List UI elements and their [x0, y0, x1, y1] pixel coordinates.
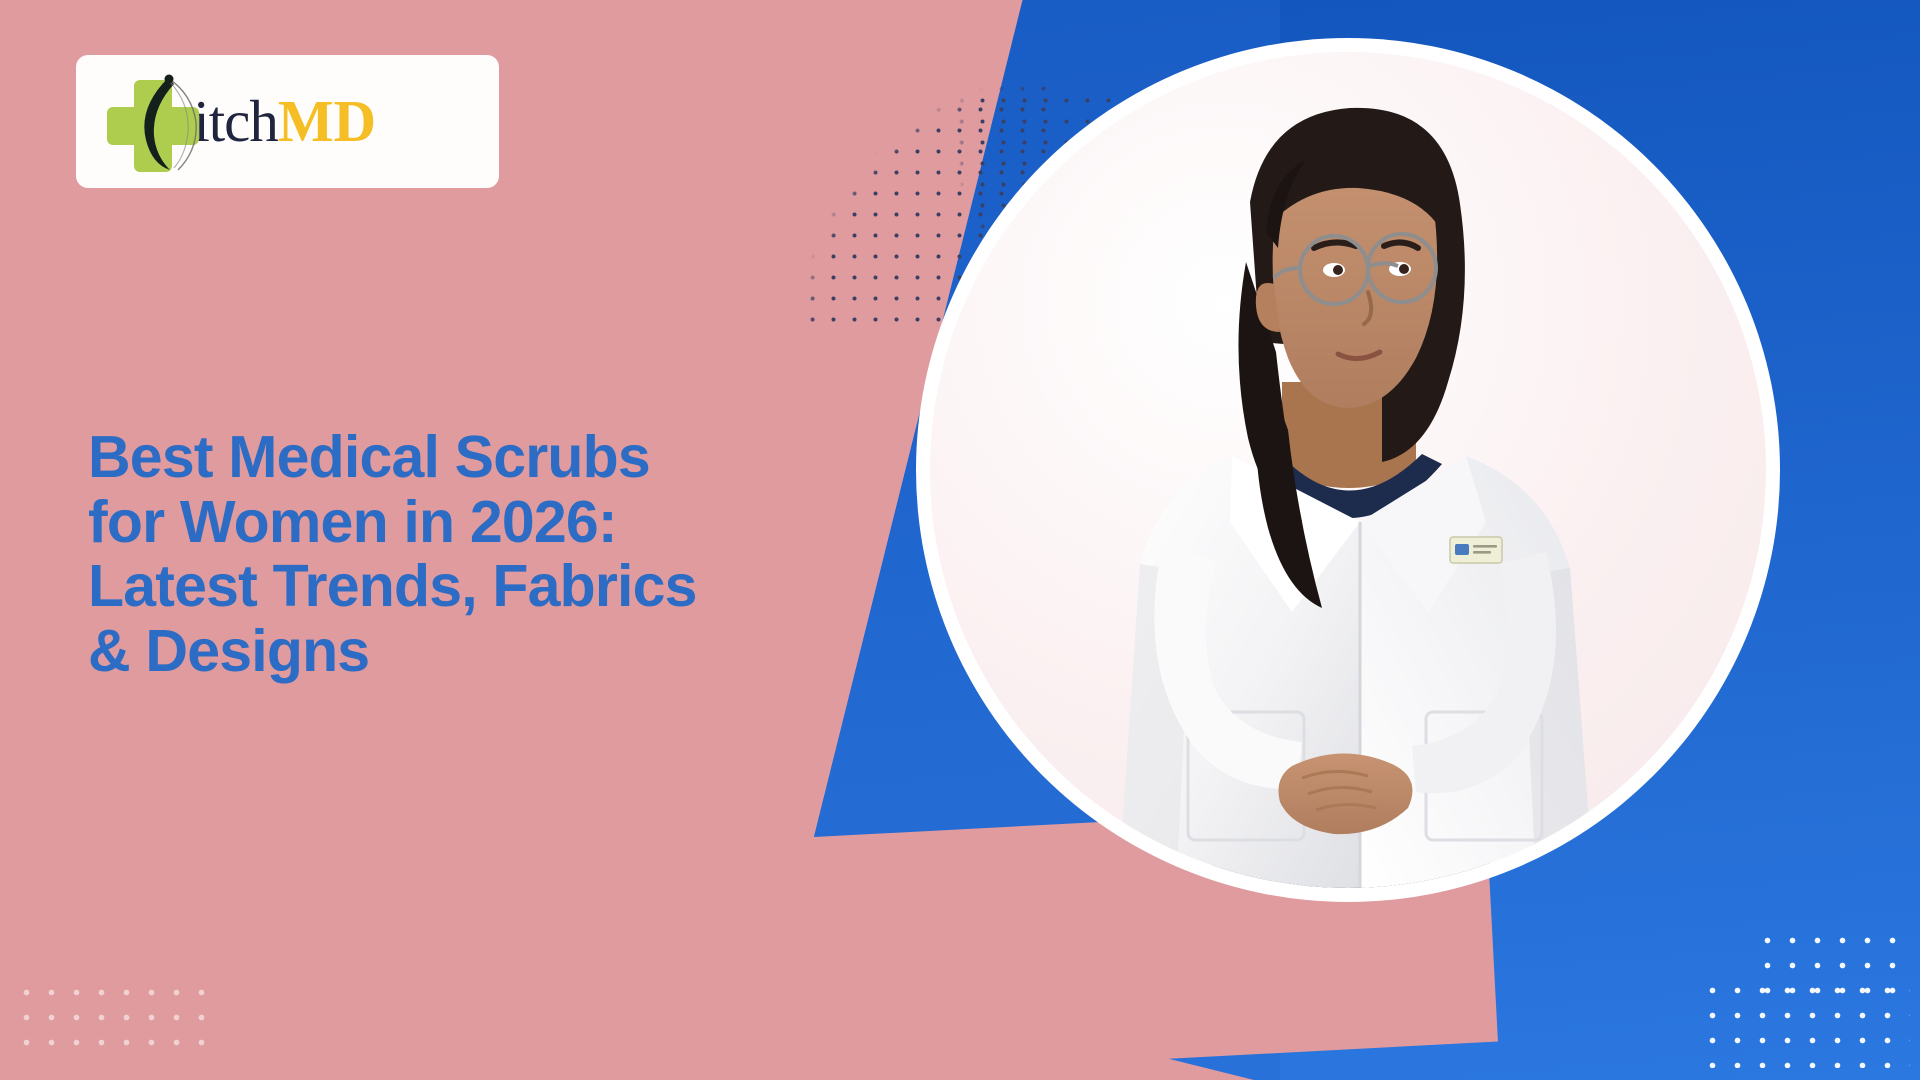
doctor-portrait [930, 52, 1766, 888]
stitchmd-logo-card[interactable]: titchMD [76, 55, 499, 188]
headline-line-2: for Women in 2026: [88, 490, 918, 555]
white-dot-grid-bottom-left-icon [14, 980, 219, 1060]
banner-canvas: titchMD Best Medical Scrubs for Women in… [0, 0, 1920, 1080]
medical-cross-needle-icon [102, 72, 208, 172]
page-title: Best Medical Scrubs for Women in 2026: L… [88, 425, 918, 683]
headline-line-4: & Designs [88, 619, 918, 684]
hero-circle-frame [930, 52, 1766, 888]
headline-line-3: Latest Trends, Fabrics [88, 554, 918, 619]
headline-line-1: Best Medical Scrubs [88, 425, 918, 490]
white-dot-grid-bottom-right-2-icon [1700, 978, 1910, 1068]
logo-word-secondary: MD [278, 88, 376, 154]
needle-thread-icon [112, 70, 212, 176]
